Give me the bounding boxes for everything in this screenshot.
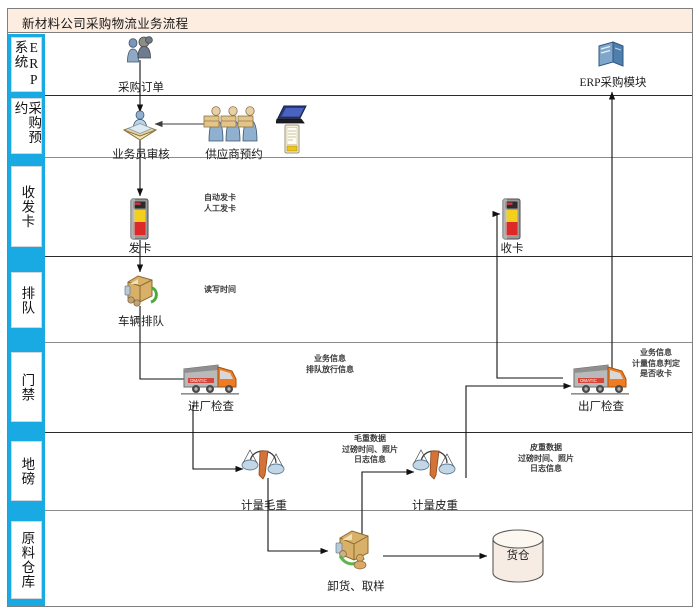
node-label-issue-card: 发卡 <box>116 240 164 256</box>
wire-entrycheck-to-gross <box>193 405 243 469</box>
note-card: 自动发卡 人工发卡 <box>175 193 265 214</box>
note-queue: 读写时间 <box>175 285 265 296</box>
node-label-supplier-booking: 供应商预约 <box>197 146 271 162</box>
suppliers-icon <box>200 103 266 150</box>
flowchart-page: 新材料公司采购物流业务流程 ERP系统 采购预约 收发卡 排队 门禁 地磅 原料… <box>0 0 700 615</box>
erp-module-icon <box>596 40 626 73</box>
mobile-form-icon <box>283 124 301 159</box>
card-kiosk-icon-collect <box>500 198 524 245</box>
node-label-gross-weight: 计量毛重 <box>228 497 300 513</box>
note-gate-entry: 业务信息 排队放行信息 <box>280 354 380 375</box>
node-label-salesman-review: 业务员审核 <box>104 146 178 162</box>
note-gate-exit: 业务信息 计量信息判定 是否收卡 <box>612 348 700 380</box>
note-gross: 毛重数据 过磅时间、照片 日志信息 <box>320 434 420 466</box>
node-label-erp-module: ERP采购模块 <box>577 74 649 90</box>
node-label-goods-store: 货仓 <box>494 547 542 563</box>
node-label-purchase-order: 采购订单 <box>105 79 177 95</box>
svg-text:OMATIC: OMATIC <box>580 378 597 383</box>
unload-truck-icon <box>330 528 382 575</box>
balance-scale-icon-gross <box>238 441 290 492</box>
note-tare: 皮重数据 过磅时间、照片 日志信息 <box>496 443 596 475</box>
node-label-collect-card: 收卡 <box>488 240 536 256</box>
node-label-entry-check: 进厂检查 <box>175 398 247 414</box>
node-label-unload-sample: 卸货、取样 <box>313 578 399 594</box>
node-label-tare-weight: 计量皮重 <box>399 497 471 513</box>
svg-text:OMATIC: OMATIC <box>190 378 207 383</box>
node-label-vehicle-queue: 车辆排队 <box>106 313 176 329</box>
two-people-icon <box>122 36 158 69</box>
truck-box-icon <box>118 272 162 313</box>
review-inbox-icon <box>116 106 164 149</box>
node-label-exit-check: 出厂检查 <box>565 398 637 414</box>
card-kiosk-icon-issue <box>128 198 152 245</box>
